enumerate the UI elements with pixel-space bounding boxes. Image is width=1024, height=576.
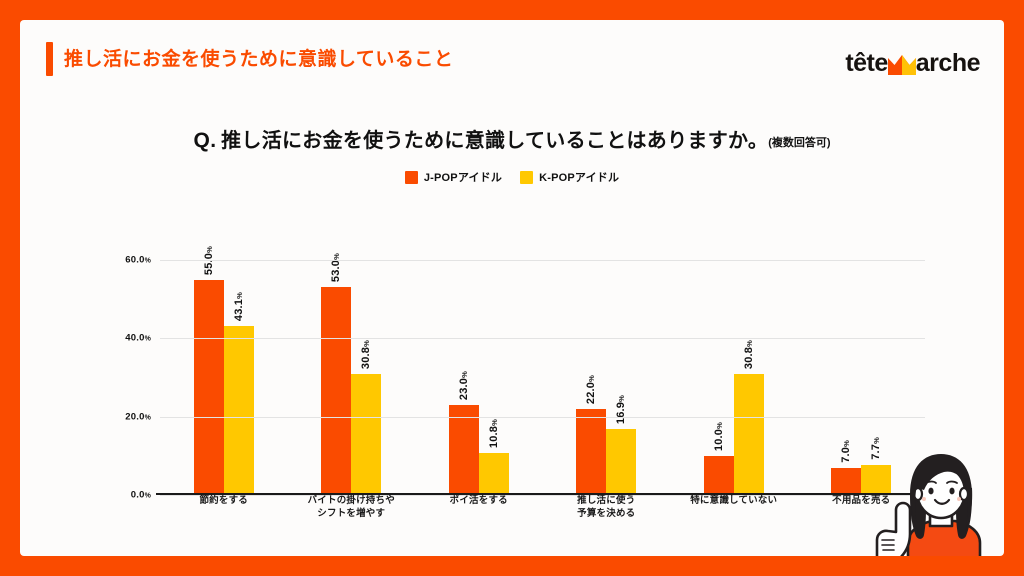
chart-bar-value-label: 22.0% xyxy=(585,375,597,404)
chart-bar[interactable]: 55.0% xyxy=(194,280,224,495)
chart-bar-value-label: 30.8% xyxy=(360,340,372,369)
chart-plot-area: 55.0%43.1%53.0%30.8%23.0%10.8%22.0%16.9%… xyxy=(160,260,925,495)
chart-bar[interactable]: 16.9% xyxy=(606,429,636,495)
chart-bar-value-label: 53.0% xyxy=(330,253,342,282)
chart-x-tick-label: 特に意識していない xyxy=(670,495,798,521)
chart-gridline xyxy=(160,417,925,418)
chart-bar-slot: 23.0% xyxy=(449,260,479,495)
chart-bar-value-label: 30.8% xyxy=(743,340,755,369)
chart-bar-slot: 30.8% xyxy=(734,260,764,495)
chart-bar-slot: 43.1% xyxy=(224,260,254,495)
chart-bar-slot: 55.0% xyxy=(194,260,224,495)
chart-bar-slot: 10.8% xyxy=(479,260,509,495)
chart-bar-slot: 53.0% xyxy=(321,260,351,495)
header-accent-bar xyxy=(46,42,53,76)
chart-bar-value-label: 10.0% xyxy=(713,422,725,451)
chart-bar-group: 10.0%30.8% xyxy=(670,260,798,495)
chart-bar-slot: 22.0% xyxy=(576,260,606,495)
chart-bar-groups: 55.0%43.1%53.0%30.8%23.0%10.8%22.0%16.9%… xyxy=(160,260,925,495)
question-text: 推し活にお金を使うために意識していることはありますか。 xyxy=(221,130,768,152)
chart-bar-slot: 10.0% xyxy=(704,260,734,495)
chart-x-tick-label: 推し活に使う予算を決める xyxy=(543,495,671,521)
crown-m-icon xyxy=(887,54,917,76)
chart-bar-value-label: 16.9% xyxy=(615,395,627,424)
legend-swatch-jpop xyxy=(405,171,418,184)
chart-x-axis-labels: 節約をするバイトの掛け持ちやシフトを増やすポイ活をする推し活に使う予算を決める特… xyxy=(160,495,925,521)
chart-bar[interactable]: 30.8% xyxy=(351,374,381,495)
chart-bar[interactable]: 10.8% xyxy=(479,453,509,495)
chart-bar[interactable]: 53.0% xyxy=(321,287,351,495)
slide-panel: 推し活にお金を使うために意識していること tête arche Q. 推し活にお… xyxy=(20,20,1004,556)
chart-bar[interactable]: 23.0% xyxy=(449,405,479,495)
chart-y-tick-label: 0.0% xyxy=(131,490,151,501)
chart-legend: J-POPアイドル K-POPアイドル xyxy=(20,169,1004,185)
slide-frame: 推し活にお金を使うために意識していること tête arche Q. 推し活にお… xyxy=(0,0,1024,576)
question-prefix: Q. xyxy=(193,129,216,152)
chart-x-tick-label: ポイ活をする xyxy=(415,495,543,521)
legend-swatch-kpop xyxy=(520,171,533,184)
chart-bar-value-label: 10.8% xyxy=(488,419,500,448)
logo-text-left: tête xyxy=(845,49,887,78)
chart-bar-group: 22.0%16.9% xyxy=(543,260,671,495)
brand-logo: tête arche xyxy=(845,48,980,78)
chart-bar[interactable]: 10.0% xyxy=(704,456,734,495)
legend-item-jpop: J-POPアイドル xyxy=(405,169,502,185)
chart-x-tick-label: 節約をする xyxy=(160,495,288,521)
chart-bar-slot: 7.0% xyxy=(831,260,861,495)
chart-bar-value-label: 43.1% xyxy=(233,292,245,321)
chart-gridline xyxy=(160,260,925,261)
legend-item-kpop: K-POPアイドル xyxy=(520,169,619,185)
bar-chart: 55.0%43.1%53.0%30.8%23.0%10.8%22.0%16.9%… xyxy=(108,242,928,502)
chart-bar[interactable]: 22.0% xyxy=(576,409,606,495)
logo-text-right: arche xyxy=(916,49,980,78)
header: 推し活にお金を使うために意識していること tête arche xyxy=(20,20,1004,92)
page-title: 推し活にお金を使うために意識していること xyxy=(64,44,453,71)
chart-bar-value-label: 23.0% xyxy=(458,371,470,400)
question-note: (複数回答可) xyxy=(768,137,830,149)
chart-bar[interactable]: 7.0% xyxy=(831,468,861,495)
chart-bar-group: 55.0%43.1% xyxy=(160,260,288,495)
chart-bar-slot: 30.8% xyxy=(351,260,381,495)
chart-bar-slot: 16.9% xyxy=(606,260,636,495)
chart-y-tick-label: 60.0% xyxy=(125,255,151,266)
legend-label-kpop: K-POPアイドル xyxy=(539,169,619,185)
chart-bar[interactable]: 30.8% xyxy=(734,374,764,495)
chart-bar-group: 23.0%10.8% xyxy=(415,260,543,495)
woman-pointing-up-illustration xyxy=(860,448,1004,556)
legend-label-jpop: J-POPアイドル xyxy=(424,169,502,185)
chart-y-tick-label: 40.0% xyxy=(125,333,151,344)
question-title: Q. 推し活にお金を使うために意識していることはありますか。(複数回答可) xyxy=(20,124,1004,153)
chart-x-tick-label: バイトの掛け持ちやシフトを増やす xyxy=(288,495,416,521)
chart-bar-value-label: 7.0% xyxy=(840,440,852,463)
chart-y-tick-label: 20.0% xyxy=(125,411,151,422)
chart-bar[interactable]: 43.1% xyxy=(224,326,254,495)
chart-bar-group: 53.0%30.8% xyxy=(288,260,416,495)
chart-gridline xyxy=(160,338,925,339)
